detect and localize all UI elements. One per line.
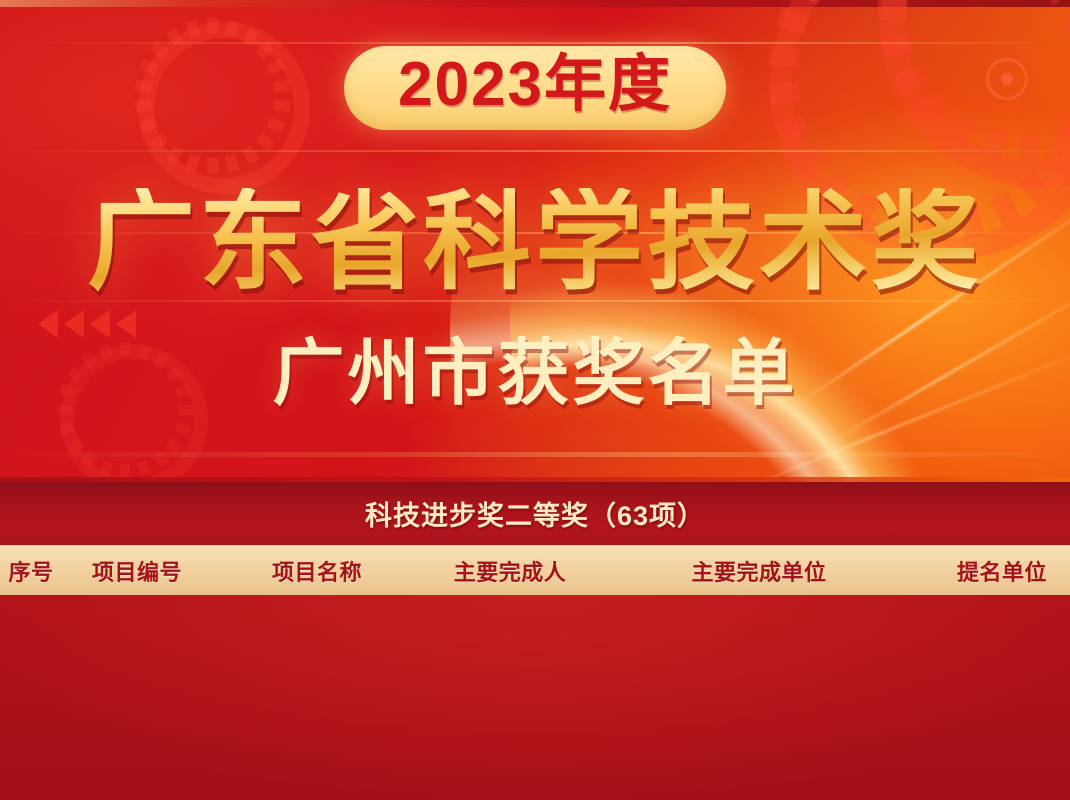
category-label: 科技进步奖二等奖（63项） (365, 494, 705, 533)
year-badge-label: 2023年度 (398, 54, 672, 116)
page-subtitle: 广州市获奖名单 (0, 338, 1070, 410)
left-arrow-icon (116, 310, 136, 338)
page-title: 广东省科学技术奖 (0, 188, 1070, 296)
year-badge: 2023年度 (344, 46, 726, 130)
column-header-name: 项目名称 (212, 546, 422, 596)
award-banner: 2023年度 广东省科学技术奖 广州市获奖名单 (0, 0, 1070, 482)
gear-icon (138, 22, 286, 170)
column-header-id: 项目编号 (66, 546, 208, 596)
table-row: 92 J17-2-04 男性健康治疗药物 研发关键技术突破 与产业化创新升级 王… (0, 595, 1070, 800)
left-arrow-icon (64, 310, 84, 338)
arrow-decoration-group (38, 310, 136, 338)
column-header-no: 序号 (0, 546, 62, 596)
category-band: 科技进步奖二等奖（63项） (0, 482, 1070, 545)
award-list-page: 2023年度 广东省科学技术奖 广州市获奖名单 科技进步奖二等奖（63项） 序号… (0, 0, 1070, 800)
left-arrow-icon (90, 310, 110, 338)
left-arrow-icon (38, 310, 58, 338)
column-header-people: 主要完成人 (424, 546, 596, 596)
table-body: 92 J17-2-04 男性健康治疗药物 研发关键技术突破 与产业化创新升级 王… (0, 595, 1070, 800)
column-header-nom: 提名单位 (938, 546, 1066, 596)
column-header-unit: 主要完成单位 (630, 546, 888, 596)
table-header-row: 序号 项目编号 项目名称 主要完成人 主要完成单位 提名单位 (0, 545, 1070, 596)
